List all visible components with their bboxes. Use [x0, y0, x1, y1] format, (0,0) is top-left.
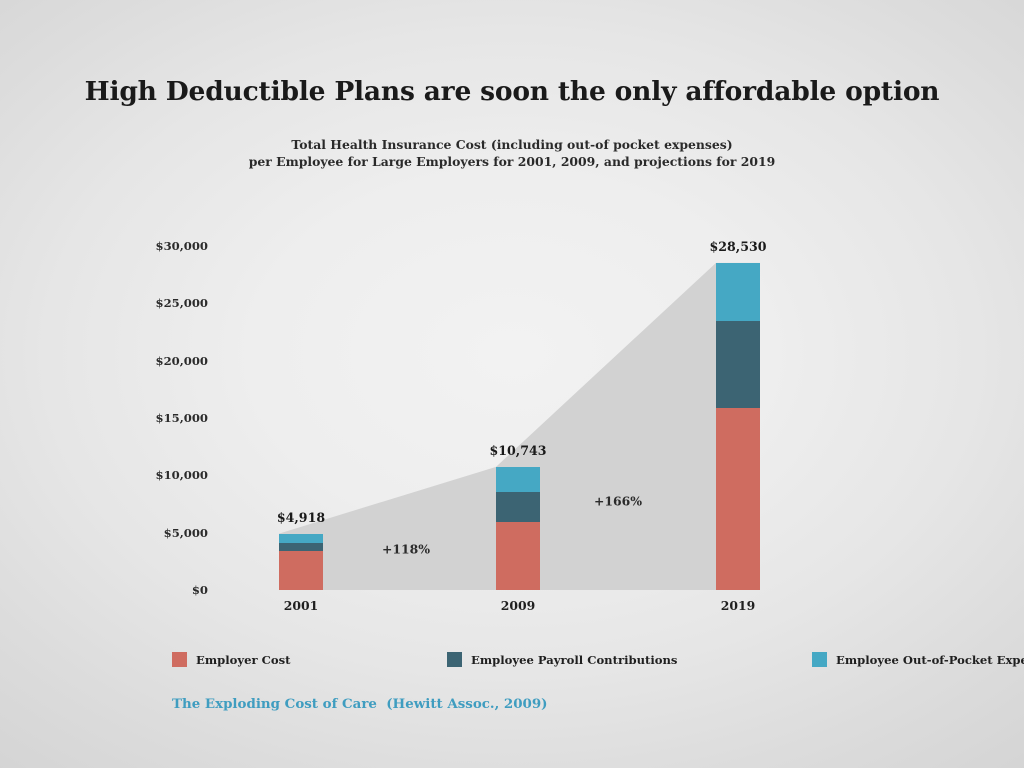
- x-axis-tick-label: 2019: [721, 598, 756, 613]
- bar-segment[interactable]: [279, 543, 323, 551]
- chart-subtitle: Total Health Insurance Cost (including o…: [0, 136, 1024, 170]
- y-axis-tick-label: $0: [192, 583, 208, 597]
- bar-segment[interactable]: [496, 492, 540, 522]
- legend-swatch: [172, 652, 187, 667]
- bar-segment[interactable]: [716, 321, 760, 408]
- x-axis-tick-label: 2001: [284, 598, 319, 613]
- y-axis-tick-label: $15,000: [156, 411, 208, 425]
- legend-label: Employee Payroll Contributions: [471, 653, 677, 667]
- y-axis-tick-label: $20,000: [156, 354, 208, 368]
- bar-total-label: $4,918: [277, 510, 325, 525]
- x-axis-tick-label: 2009: [501, 598, 536, 613]
- bar-segment[interactable]: [716, 263, 760, 321]
- y-axis-tick-label: $5,000: [164, 526, 208, 540]
- growth-annotation: +166%: [594, 494, 642, 509]
- bar-2001[interactable]: [279, 534, 323, 590]
- legend-item[interactable]: Employee Payroll Contributions: [447, 652, 677, 667]
- chart-legend: Employer CostEmployee Payroll Contributi…: [172, 652, 952, 672]
- legend-label: Employee Out-of-Pocket Expenses: [836, 653, 1024, 667]
- growth-annotation: +118%: [382, 542, 430, 557]
- y-axis: $0$5,000$10,000$15,000$20,000$25,000$30,…: [100, 246, 208, 590]
- legend-label: Employer Cost: [196, 653, 290, 667]
- chart-title: High Deductible Plans are soon the only …: [0, 76, 1024, 107]
- legend-swatch: [812, 652, 827, 667]
- bar-segment[interactable]: [496, 467, 540, 492]
- y-axis-tick-label: $10,000: [156, 468, 208, 482]
- chart-subtitle-line-1: Total Health Insurance Cost (including o…: [0, 136, 1024, 153]
- source-caption: The Exploding Cost of Care (Hewitt Assoc…: [172, 696, 548, 712]
- legend-swatch: [447, 652, 462, 667]
- bar-total-label: $10,743: [490, 443, 547, 458]
- plot-area: $4,9182001$10,7432009$28,5302019+118%+16…: [226, 246, 838, 590]
- legend-item[interactable]: Employer Cost: [172, 652, 290, 667]
- bar-segment[interactable]: [716, 408, 760, 590]
- chart-subtitle-line-2: per Employee for Large Employers for 200…: [0, 153, 1024, 170]
- bar-2019[interactable]: [716, 263, 760, 590]
- y-axis-tick-label: $30,000: [156, 239, 208, 253]
- bar-segment[interactable]: [279, 534, 323, 543]
- y-axis-tick-label: $25,000: [156, 296, 208, 310]
- chart-canvas: High Deductible Plans are soon the only …: [0, 0, 1024, 768]
- bar-segment[interactable]: [496, 522, 540, 590]
- bar-2009[interactable]: [496, 467, 540, 590]
- legend-item[interactable]: Employee Out-of-Pocket Expenses: [812, 652, 1024, 667]
- bar-segment[interactable]: [279, 551, 323, 590]
- bar-total-label: $28,530: [710, 239, 767, 254]
